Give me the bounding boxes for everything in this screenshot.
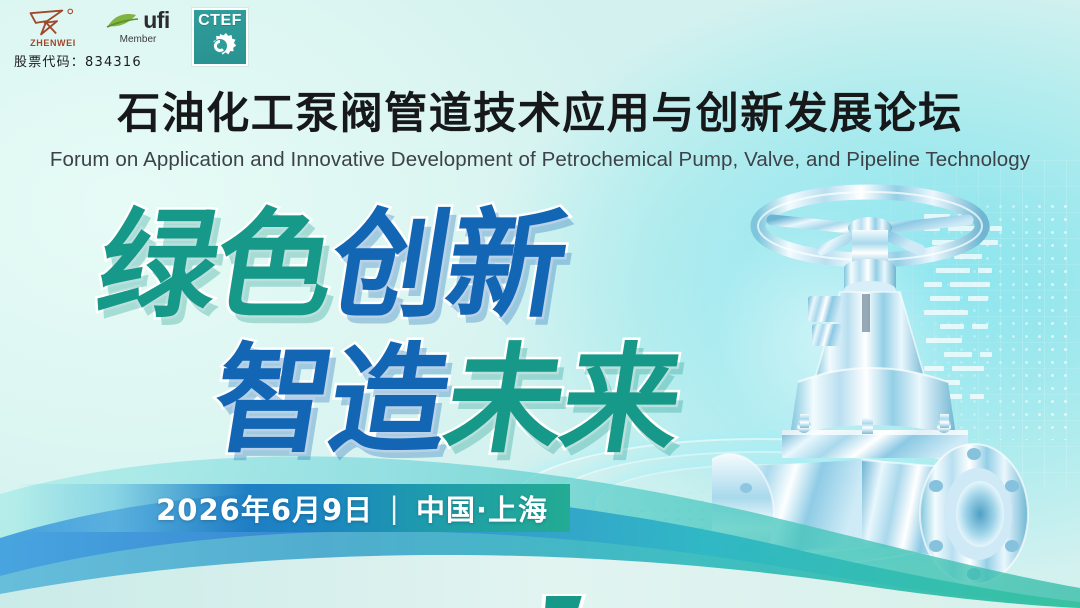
page-title-english: Forum on Application and Innovative Deve… bbox=[50, 148, 1030, 173]
logo-strip: ZHENWEI ufi Member 股票代码：834316 CTEF bbox=[14, 6, 248, 70]
zhenwei-label: ZHENWEI bbox=[30, 38, 76, 48]
gear-icon bbox=[201, 29, 239, 63]
event-location: 中国·上海 bbox=[416, 487, 548, 529]
zhenwei-logo: ZHENWEI bbox=[14, 7, 92, 48]
slogan-green-innovation-part2: 创新 bbox=[323, 206, 574, 324]
event-separator: | bbox=[389, 491, 400, 525]
ufi-wordmark: ufi bbox=[143, 9, 170, 32]
stock-code-label: 股票代码：834316 bbox=[14, 51, 186, 70]
slogan-smart-future-part2: 未来 bbox=[438, 341, 689, 459]
slogan-line-1: 绿色创新 bbox=[100, 206, 564, 324]
ctef-wordmark: CTEF bbox=[198, 12, 242, 30]
event-date-bar: 2026年6月9日 | 中国·上海 bbox=[14, 484, 570, 532]
ufi-logo: ufi Member bbox=[92, 9, 184, 45]
slogan-smart-future-part1: 智造 bbox=[206, 341, 457, 459]
slogan-block: 绿色创新 智造未来 bbox=[0, 196, 760, 506]
slogan-line-2: 智造未来 bbox=[215, 341, 679, 459]
zhenwei-bird-icon bbox=[27, 7, 80, 37]
event-date: 2026年6月9日 bbox=[156, 487, 373, 529]
ctef-logo: CTEF bbox=[192, 8, 248, 66]
ufi-leaf-icon bbox=[106, 10, 142, 32]
page-title-chinese: 石油化工泵阀管道技术应用与创新发展论坛 bbox=[117, 93, 963, 136]
slogan-green-innovation-part1: 绿色 bbox=[91, 206, 342, 324]
ufi-member-label: Member bbox=[120, 34, 157, 45]
promotional-banner: ZHENWEI ufi Member 股票代码：834316 CTEF bbox=[0, 0, 1080, 608]
